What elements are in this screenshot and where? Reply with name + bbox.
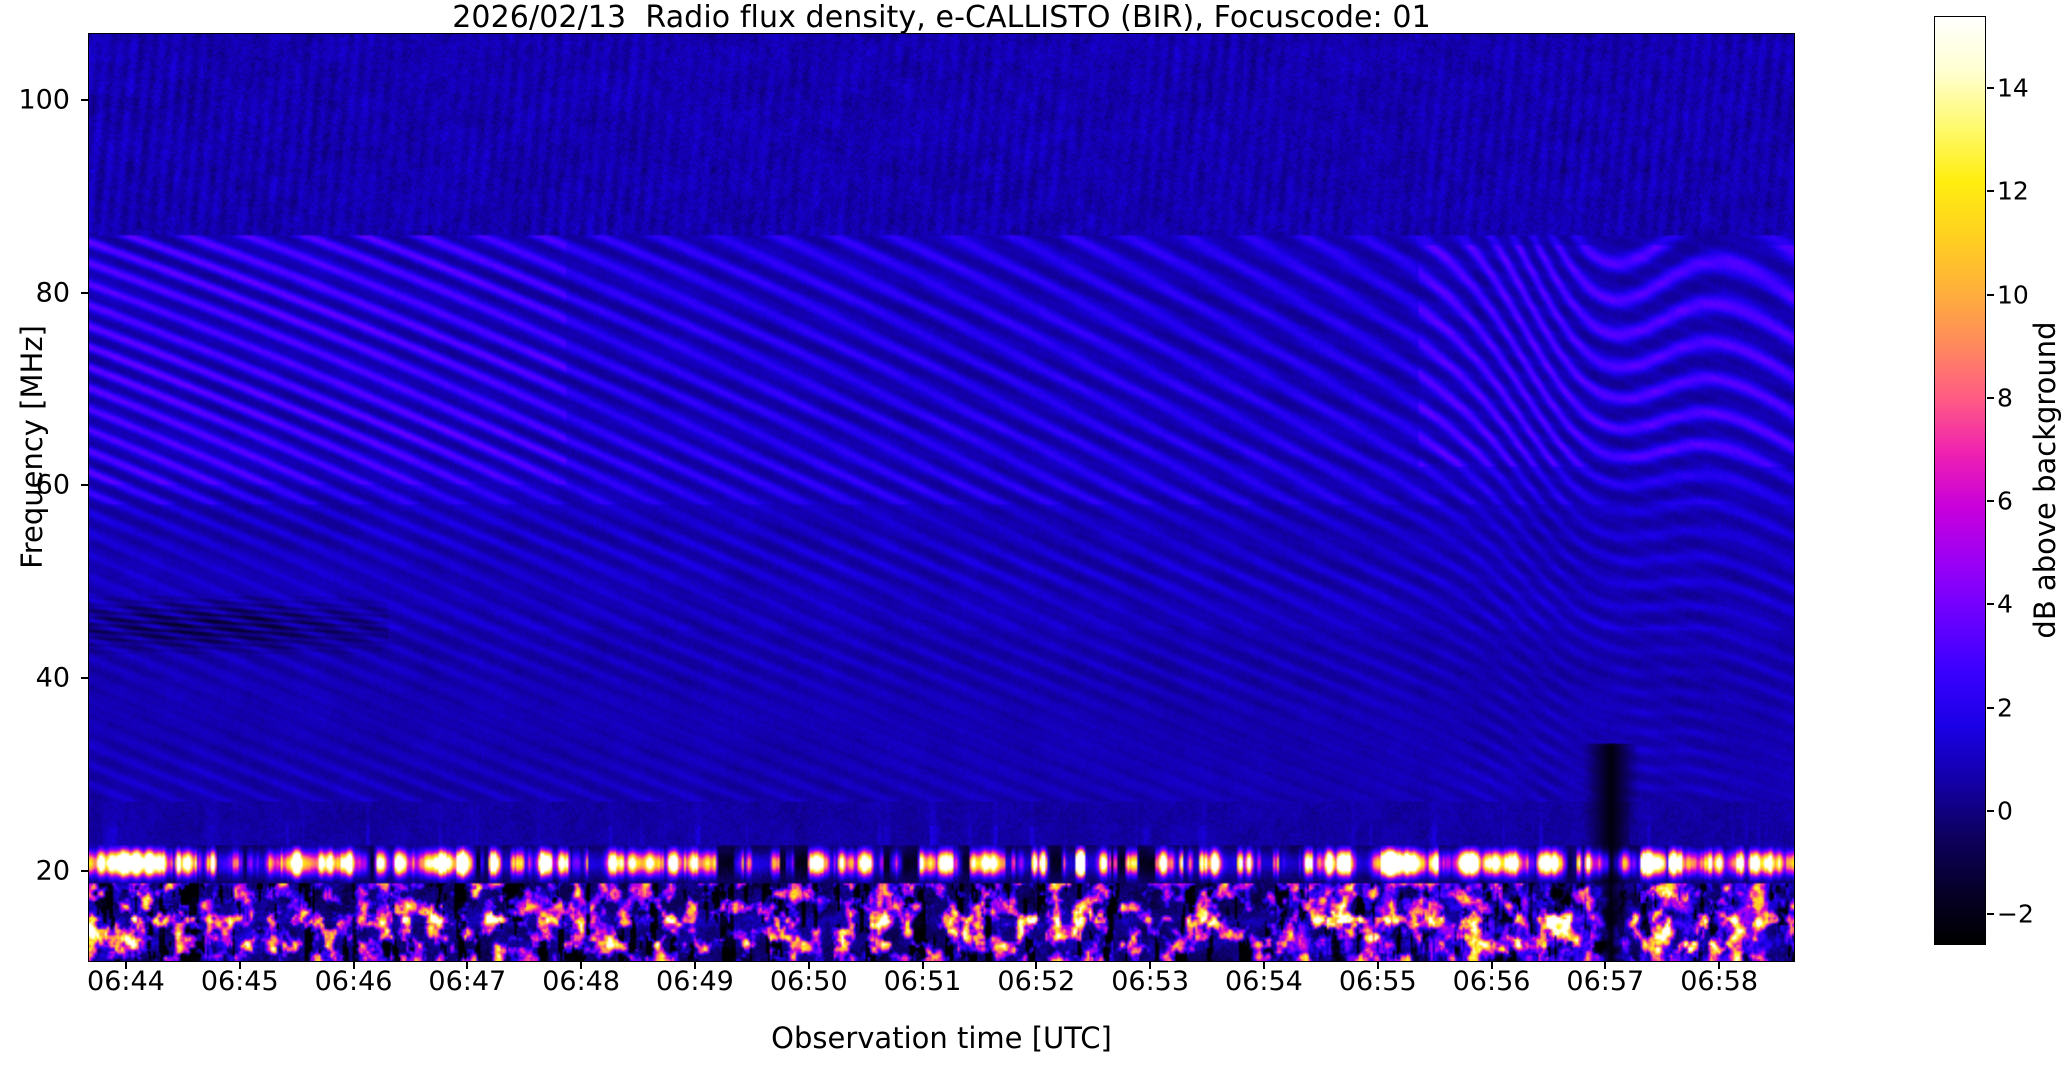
colorbar-tick-mark [1987,294,1994,296]
colorbar-tick-label: 8 [1997,383,2013,412]
colorbar-tick-label: 0 [1997,796,2013,825]
colorbar-tick-mark [1987,707,1994,709]
figure-title: 2026/02/13 Radio flux density, e-CALLIST… [88,1,1795,33]
colorbar-tick-mark [1987,603,1994,605]
colorbar-tick-label: 2 [1997,693,2013,722]
colorbar-tick-mark [1987,87,1994,89]
y-tick-mark [81,870,88,872]
colorbar-tick-label: 10 [1997,280,2029,309]
y-tick-label-60: 60 [10,470,70,501]
y-tick-mark [81,484,88,486]
colorbar-tick-label: 12 [1997,177,2029,206]
y-axis-label: Frequency [MHz] [15,187,49,707]
colorbar-label: dB above background [2028,15,2062,945]
dynamic-spectrum-canvas [89,34,1794,961]
figure-canvas: 2026/02/13 Radio flux density, e-CALLIST… [0,0,2066,1067]
colorbar-tick-mark [1987,500,1994,502]
x-tick-label-06-58: 06:58 [1639,966,1799,997]
y-tick-label-100: 100 [10,85,70,116]
colorbar-gradient [1935,17,1985,944]
y-tick-label-40: 40 [10,663,70,694]
y-tick-mark [81,99,88,101]
colorbar-tick-mark [1987,190,1994,192]
y-tick-mark [81,677,88,679]
y-tick-mark [81,292,88,294]
colorbar[interactable] [1934,16,1986,945]
colorbar-tick-mark [1987,913,1994,915]
y-axis-label-wrap: Frequency [MHz] [0,0,30,929]
colorbar-tick-mark [1987,810,1994,812]
colorbar-tick-label: 6 [1997,487,2013,516]
colorbar-tick-label: 14 [1997,74,2029,103]
spectrogram-image [89,34,1794,961]
colorbar-label-wrap: dB above background [2028,16,2062,945]
y-tick-label-80: 80 [10,277,70,308]
x-axis-label: Observation time [UTC] [88,1021,1795,1055]
colorbar-tick-label: 4 [1997,590,2013,619]
y-tick-label-20: 20 [10,855,70,886]
spectrogram-plot-area[interactable] [88,33,1795,962]
colorbar-tick-mark [1987,397,1994,399]
